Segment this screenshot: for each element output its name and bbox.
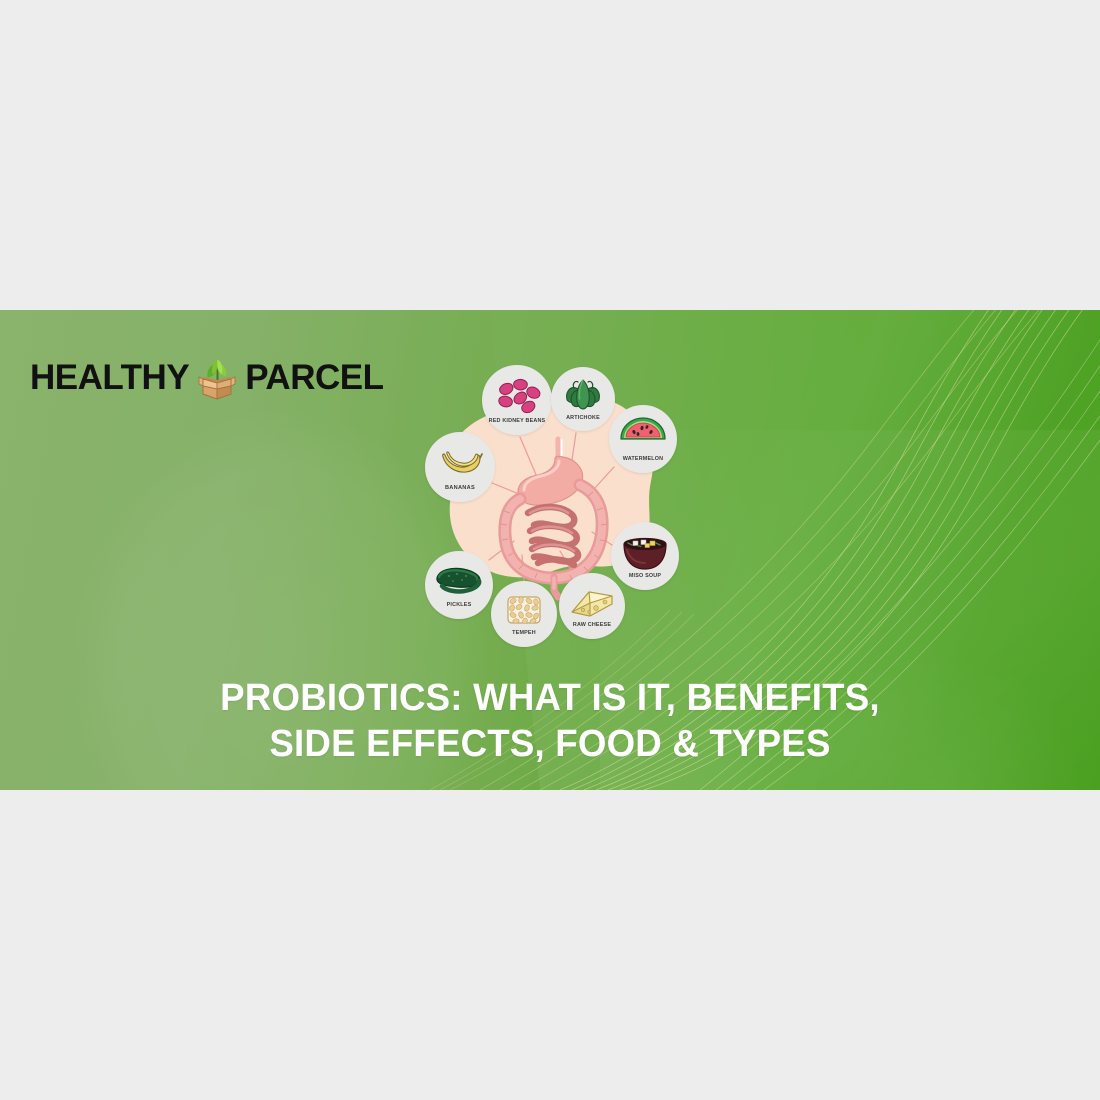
food-item-pickles: PICKLES — [425, 551, 493, 619]
page-root: HEALTHY — [0, 0, 1100, 1100]
logo-word-healthy: HEALTHY — [30, 360, 189, 395]
food-label: RAW CHEESE — [573, 622, 611, 628]
page-title-line-1: PROBIOTICS: WHAT IS IT, BENEFITS, — [19, 675, 1081, 721]
open-box-with-leaves-icon — [191, 353, 243, 405]
food-label: PICKLES — [447, 602, 472, 608]
food-item-raw-cheese: RAW CHEESE — [559, 573, 625, 639]
page-title: PROBIOTICS: WHAT IS IT, BENEFITS, SIDE E… — [19, 675, 1081, 767]
food-label: ARTICHOKE — [566, 415, 600, 421]
food-label: MISO SOUP — [629, 573, 662, 579]
food-item-bananas: BANANAS — [425, 432, 495, 502]
page-title-line-2: SIDE EFFECTS, FOOD & TYPES — [19, 721, 1081, 767]
article-hero-banner: HEALTHY — [0, 310, 1100, 790]
infographic-svg: BANANAS RED K — [404, 355, 704, 650]
food-label: RED KIDNEY BEANS — [489, 418, 546, 424]
site-logo[interactable]: HEALTHY — [30, 353, 384, 401]
food-label: BANANAS — [445, 485, 475, 491]
food-item-artichoke: ARTICHOKE — [551, 367, 615, 431]
food-item-watermelon: WATERMELON — [609, 405, 677, 473]
food-item-red-kidney-beans: RED KIDNEY BEANS — [482, 365, 552, 435]
probiotic-foods-infographic: BANANAS RED K — [404, 355, 704, 650]
tempeh-block-icon — [508, 596, 540, 624]
logo-word-parcel: PARCEL — [245, 360, 383, 395]
food-label: WATERMELON — [623, 456, 664, 462]
food-item-miso-soup: MISO SOUP — [611, 522, 679, 590]
food-item-tempeh: TEMPEH — [491, 581, 557, 647]
food-label: TEMPEH — [512, 630, 536, 636]
